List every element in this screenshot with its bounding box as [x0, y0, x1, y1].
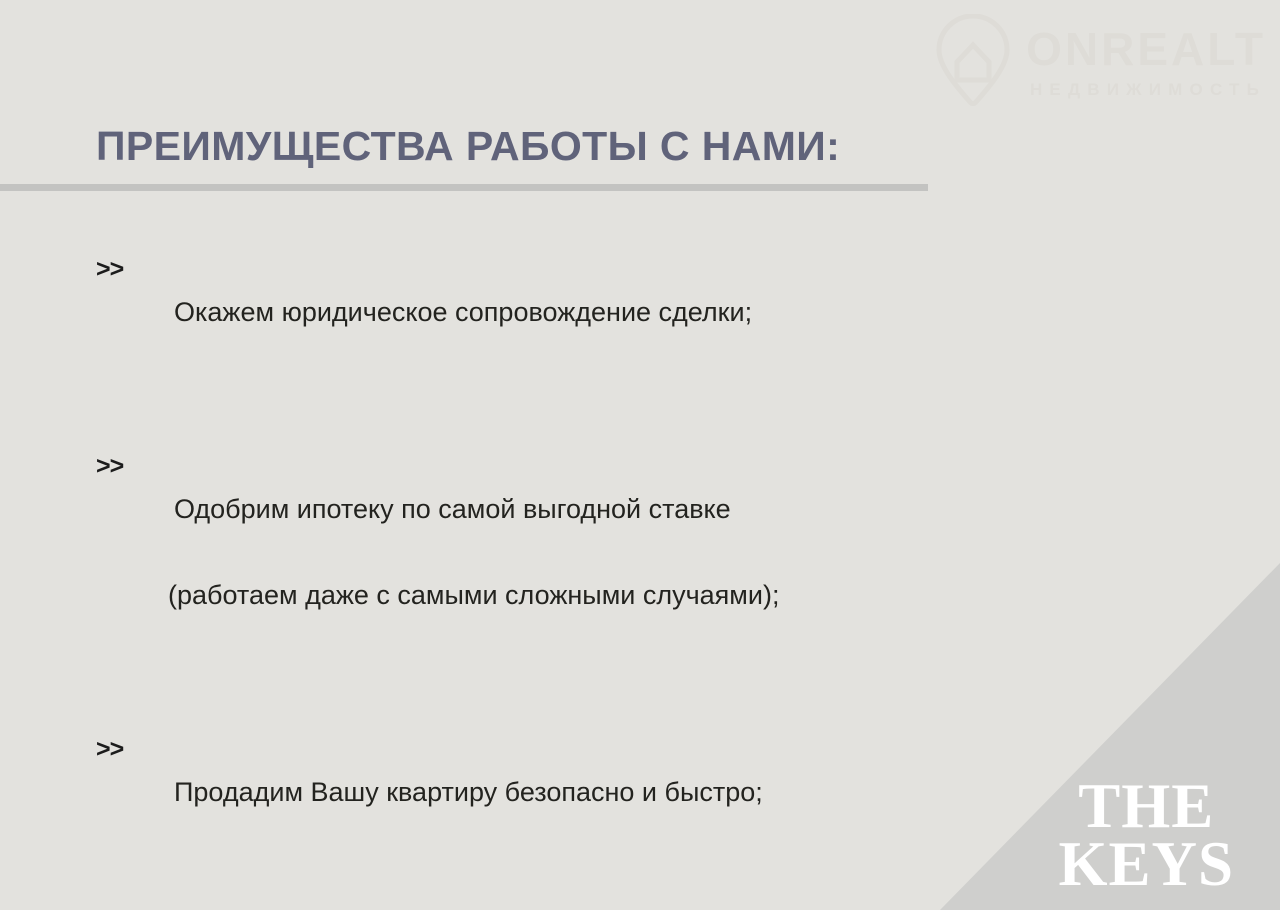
logo-line-2: KEYS	[1058, 836, 1234, 894]
list-item: >> Окажем юридическое сопровождение сдел…	[96, 248, 1166, 377]
double-chevron-icon: >>	[96, 445, 168, 488]
list-item-line-1: Продадим Вашу квартиру безопасно и быстр…	[168, 771, 763, 814]
list-item-text: Продадим Вашу квартиру безопасно и быстр…	[168, 728, 763, 857]
list-item-text: Окажем юридическое сопровождение сделки;	[168, 248, 752, 377]
list-item-line-1: Одобрим ипотеку по самой выгодной ставке	[168, 488, 779, 531]
list-item-line-1: Окажем юридическое сопровождение сделки;	[168, 291, 752, 334]
map-pin-house-icon	[934, 14, 1012, 106]
the-keys-logo: THE KEYS	[1058, 778, 1234, 894]
watermark-subtitle: НЕДВИЖИМОСТЬ	[1026, 81, 1266, 98]
double-chevron-icon: >>	[96, 728, 168, 771]
slide-canvas: ONREALT НЕДВИЖИМОСТЬ ПРЕИМУЩЕСТВА РАБОТЫ…	[0, 0, 1280, 910]
list-item: >> Одобрим ипотеку по самой выгодной ста…	[96, 445, 1166, 660]
list-item-line-2: (работаем даже с самыми сложными случаям…	[168, 574, 779, 617]
title-divider	[0, 184, 928, 191]
watermark-brand: ONREALT	[1026, 26, 1266, 72]
logo-line-1: THE	[1058, 778, 1234, 836]
double-chevron-icon: >>	[96, 248, 168, 291]
watermark-text-block: ONREALT НЕДВИЖИМОСТЬ	[1026, 22, 1266, 98]
list-item-text: Одобрим ипотеку по самой выгодной ставке…	[168, 445, 779, 660]
onrealt-watermark: ONREALT НЕДВИЖИМОСТЬ	[934, 14, 1266, 106]
page-title: ПРЕИМУЩЕСТВА РАБОТЫ С НАМИ:	[96, 123, 840, 170]
benefits-list: >> Окажем юридическое сопровождение сдел…	[96, 248, 1166, 910]
list-item: >> Продадим Вашу квартиру безопасно и бы…	[96, 728, 1166, 857]
